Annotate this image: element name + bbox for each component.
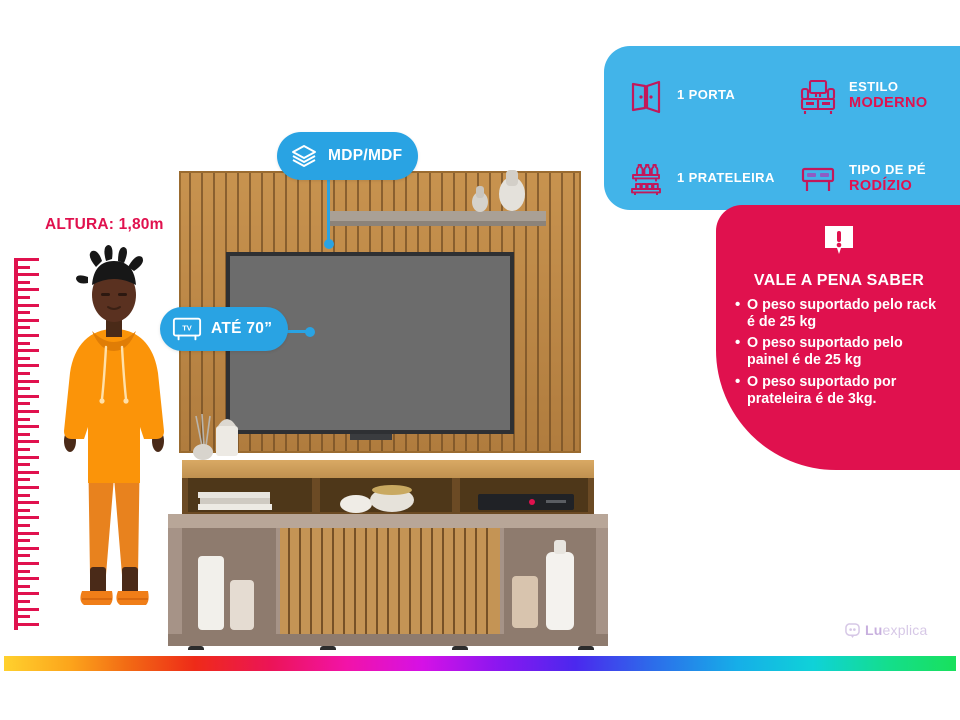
ruler-tick xyxy=(17,372,30,375)
ruler-tick xyxy=(17,524,30,527)
feature-estilo[interactable]: ESTILO MODERNO xyxy=(798,64,960,127)
warning-panel: VALE A PENA SABER O peso suportado pelo … xyxy=(716,205,960,470)
ruler-tick xyxy=(17,304,39,307)
callout-tv-size[interactable]: TV ATÉ 70” xyxy=(160,307,288,351)
mdp-leader-line xyxy=(327,172,330,244)
ruler-tick xyxy=(17,440,39,443)
lu-explica-logo: Luexplica xyxy=(845,622,928,638)
warning-bullet: O peso suportado por prateleira é de 3kg… xyxy=(734,374,946,408)
ruler-tick xyxy=(17,288,39,291)
feature-tipo-pe[interactable]: TIPO DE PÉ RODÍZIO xyxy=(798,147,960,210)
ruler-tick xyxy=(17,615,30,618)
ruler-tick xyxy=(17,433,30,436)
exclamation-bubble-icon xyxy=(821,223,857,259)
rack-casters xyxy=(188,646,594,650)
ruler-tick xyxy=(17,410,39,413)
ruler-tick xyxy=(17,326,30,329)
niche-receiver xyxy=(478,494,574,510)
tv-stand-icon xyxy=(798,76,838,116)
ruler-tick xyxy=(17,418,30,421)
ruler-tick xyxy=(17,539,30,542)
ruler-tick xyxy=(17,448,30,451)
callout-mdp-mdf-label: MDP/MDF xyxy=(328,147,402,165)
ruler-tick xyxy=(17,319,39,322)
ruler-tick xyxy=(17,570,30,573)
ruler-tick xyxy=(17,258,39,261)
ruler-tick xyxy=(17,494,30,497)
ruler-tick xyxy=(17,266,30,269)
ruler-tick xyxy=(17,334,39,337)
feature-prateleira-label: 1 PRATELEIRA xyxy=(677,171,775,186)
ruler-tick xyxy=(17,501,39,504)
niche-books xyxy=(198,492,272,510)
ruler-tick xyxy=(17,516,39,519)
ruler-tick xyxy=(17,357,30,360)
feature-tipo-pe-label: TIPO DE PÉ xyxy=(849,163,926,178)
ruler-tick xyxy=(17,456,39,459)
ruler-tick xyxy=(17,547,39,550)
wall-shelf xyxy=(328,211,546,226)
ruler-tick xyxy=(17,509,30,512)
feature-estilo-label: ESTILO xyxy=(849,80,928,95)
ruler-tick xyxy=(17,585,30,588)
warning-bullet-list: O peso suportado pelo rack é de 25 kg O … xyxy=(732,297,946,408)
ruler-tick xyxy=(17,478,30,481)
lu-logo-normal: explica xyxy=(883,622,928,638)
layers-icon xyxy=(289,141,319,171)
ruler-tick xyxy=(17,311,30,314)
features-panel: 1 PORTA xyxy=(604,46,960,210)
ruler-tick xyxy=(17,532,39,535)
warning-bullet: O peso suportado pelo painel é de 25 kg xyxy=(734,335,946,369)
ruler-tick xyxy=(17,273,39,276)
callout-tv-size-label: ATÉ 70” xyxy=(211,320,272,338)
ruler-tick xyxy=(17,296,30,299)
ruler-tick xyxy=(17,342,30,345)
warning-bullet: O peso suportado pelo rack é de 25 kg xyxy=(734,297,946,331)
table-leg-icon xyxy=(798,159,838,199)
ruler-tick xyxy=(17,349,39,352)
door-icon xyxy=(626,76,666,116)
ruler-tick xyxy=(17,486,39,489)
height-ruler xyxy=(14,258,40,630)
person-illustration xyxy=(52,245,176,635)
ruler-tick xyxy=(17,425,39,428)
ruler-tick xyxy=(17,608,39,611)
warning-title: VALE A PENA SABER xyxy=(732,272,946,290)
ruler-tick xyxy=(17,387,30,390)
ruler-tick xyxy=(17,623,39,626)
feature-porta[interactable]: 1 PORTA xyxy=(626,64,788,127)
ruler-tick xyxy=(17,364,39,367)
ruler-tick xyxy=(17,554,30,557)
ruler-tick xyxy=(17,562,39,565)
feature-prateleira[interactable]: 1 PRATELEIRA xyxy=(626,147,788,210)
ruler-tick xyxy=(17,471,39,474)
ruler-tick xyxy=(17,380,39,383)
ruler-tick xyxy=(17,592,39,595)
svg-text:TV: TV xyxy=(182,323,192,332)
callout-mdp-mdf[interactable]: MDP/MDF xyxy=(277,132,418,180)
ruler-tick xyxy=(17,281,30,284)
ruler-tick xyxy=(17,600,30,603)
ruler-tick xyxy=(17,395,39,398)
tv-icon: TV xyxy=(172,316,202,342)
feature-porta-label: 1 PORTA xyxy=(677,88,735,103)
ruler-tick xyxy=(17,463,30,466)
shelf-icon xyxy=(626,159,666,199)
ruler-tick xyxy=(17,402,30,405)
ruler-tick xyxy=(17,577,39,580)
infographic-canvas: ALTURA: 1,80m xyxy=(0,0,960,720)
height-label: ALTURA: 1,80m xyxy=(45,216,164,234)
lu-avatar-icon xyxy=(845,623,860,638)
rainbow-gradient-bar xyxy=(4,656,956,671)
lu-logo-bold: Lu xyxy=(865,622,883,638)
tv-rack xyxy=(168,460,608,650)
feature-tipo-pe-value: RODÍZIO xyxy=(849,178,926,194)
feature-estilo-value: MODERNO xyxy=(849,95,928,111)
furniture-set xyxy=(160,160,630,650)
